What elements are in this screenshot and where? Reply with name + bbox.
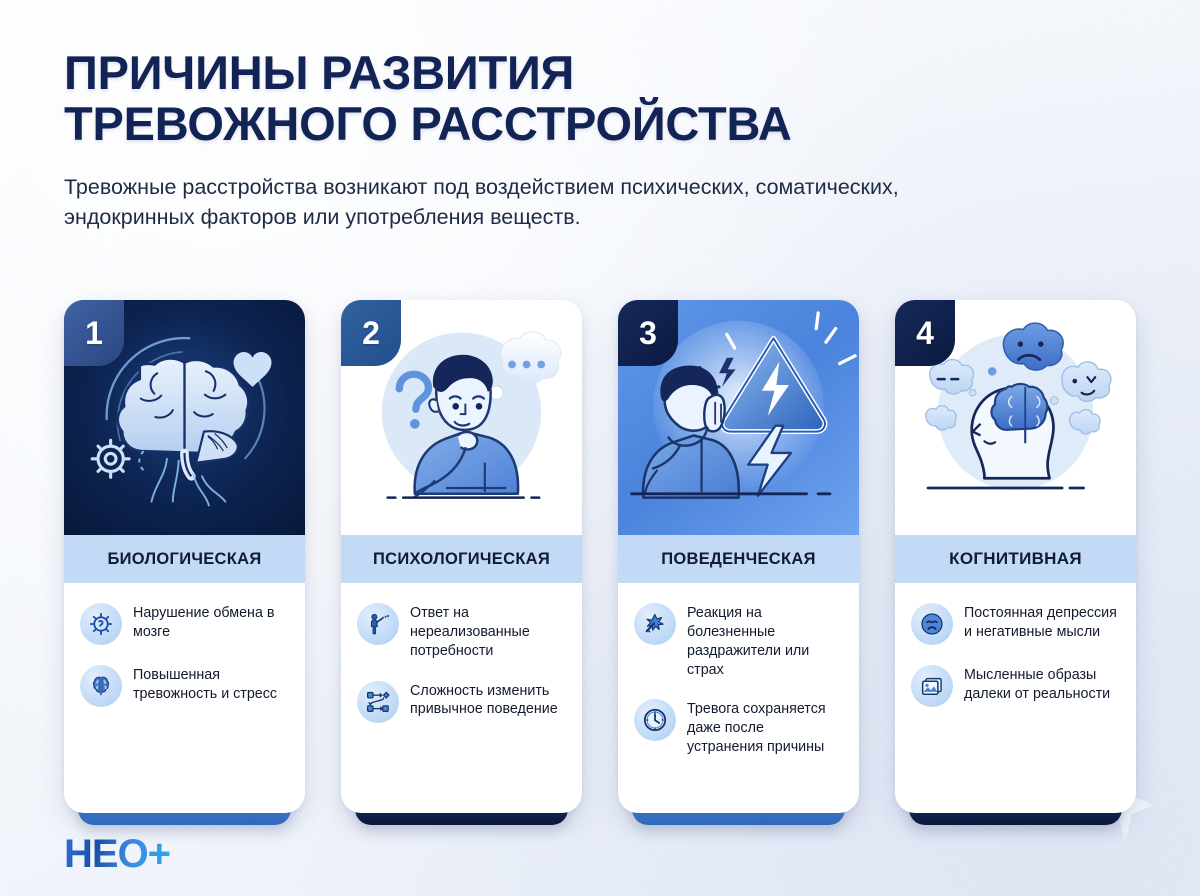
card-4-number-badge: 4 [895,300,955,366]
list-item-text: Постоянная депрессия и негативные мысли [964,603,1120,642]
card-4-image-panel: 4 [895,300,1136,535]
list-item-text: Тревога сохраняется даже после устранени… [687,699,843,757]
list-item-text: Мысленные образы далеки от реальности [964,665,1120,704]
card-3[interactable]: 3 [618,300,859,813]
list-item: Мысленные образы далеки от реальности [911,665,1120,707]
burst-spark-icon [634,603,676,645]
list-item: Ответ на нереализованные потребности [357,603,566,661]
card-2-number-badge: 2 [341,300,401,366]
clock-icon [634,699,676,741]
card-4-label: КОГНИТИВНАЯ [895,535,1136,583]
card-2-label: ПСИХОЛОГИЧЕСКАЯ [341,535,582,583]
list-item-text: Сложность изменить привычное поведение [410,681,566,720]
list-item: Постоянная депрессия и негативные мысли [911,603,1120,645]
brain-icon [80,665,122,707]
brand-logo: НЕО+ [64,834,170,874]
card-3-number-badge: 3 [618,300,678,366]
card-2-image-panel: 2 [341,300,582,535]
card-4-items: Постоянная депрессия и негативные мысли … [895,583,1136,813]
page-title: ПРИЧИНЫ РАЗВИТИЯ ТРЕВОЖНОГО РАССТРОЙСТВА [64,48,1134,150]
card-1-items: Нарушение обмена в мозге Повышенная трев… [64,583,305,813]
sad-face-icon [911,603,953,645]
title-line-2: ТРЕВОЖНОГО РАССТРОЙСТВА [64,99,1134,150]
list-item-text: Повышенная тревожность и стресс [133,665,289,704]
list-item: Реакция на болезненные раздражители или … [634,603,843,679]
flowchart-icon [357,681,399,723]
title-line-1: ПРИЧИНЫ РАЗВИТИЯ [64,46,574,99]
card-3-image-panel: 3 [618,300,859,535]
card-4[interactable]: 4 [895,300,1136,813]
person-reaching-icon [357,603,399,645]
list-item-text: Ответ на нереализованные потребности [410,603,566,661]
photo-stack-icon [911,665,953,707]
header: ПРИЧИНЫ РАЗВИТИЯ ТРЕВОЖНОГО РАССТРОЙСТВА… [64,48,1134,233]
card-3-items: Реакция на болезненные раздражители или … [618,583,859,813]
list-item-text: Реакция на болезненные раздражители или … [687,603,843,679]
list-item: Нарушение обмена в мозге [80,603,289,645]
card-3-label: ПОВЕДЕНЧЕСКАЯ [618,535,859,583]
card-1-label: БИОЛОГИЧЕСКАЯ [64,535,305,583]
list-item: Повышенная тревожность и стресс [80,665,289,707]
gear-brain-icon [80,603,122,645]
card-2-items: Ответ на нереализованные потребности [341,583,582,813]
cards-row: 1 [64,300,1136,813]
card-1-number-badge: 1 [64,300,124,366]
page-subtitle: Тревожные расстройства возникают под воз… [64,172,1004,233]
list-item: Сложность изменить привычное поведение [357,681,566,723]
list-item: Тревога сохраняется даже после устранени… [634,699,843,757]
card-1-image-panel: 1 [64,300,305,535]
card-1[interactable]: 1 [64,300,305,813]
list-item-text: Нарушение обмена в мозге [133,603,289,642]
card-2[interactable]: 2 [341,300,582,813]
